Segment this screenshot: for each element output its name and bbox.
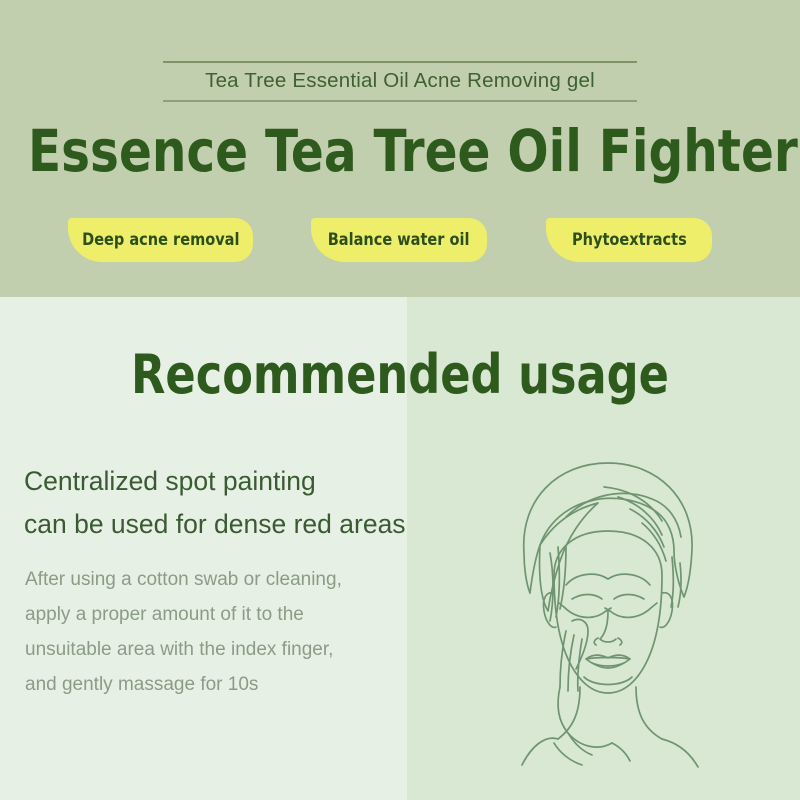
- eyebrow-rule-bottom: [163, 100, 637, 102]
- usage-detail-line: After using a cotton swab or cleaning,: [25, 562, 445, 597]
- feature-badge-label: Deep acne removal: [76, 230, 245, 250]
- usage-detail-line: apply a proper amount of it to the: [25, 597, 445, 632]
- feature-badge-phytoextracts: Phytoextracts: [546, 218, 712, 262]
- product-infographic: Tea Tree Essential Oil Acne Removing gel…: [0, 0, 800, 800]
- feature-badge-label: Phytoextracts: [566, 230, 692, 250]
- usage-detail-text: After using a cotton swab or cleaning, a…: [25, 562, 445, 702]
- woman-applying-cream-icon: [462, 425, 752, 770]
- product-subtitle: Tea Tree Essential Oil Acne Removing gel: [163, 63, 637, 100]
- usage-detail-line: unsuitable area with the index finger,: [25, 632, 445, 667]
- usage-lead-text: Centralized spot painting can be used fo…: [24, 460, 444, 546]
- usage-lead-line: can be used for dense red areas: [24, 503, 444, 546]
- usage-lead-line: Centralized spot painting: [24, 460, 444, 503]
- feature-badge-list: Deep acne removal Balance water oil Phyt…: [0, 218, 800, 264]
- feature-badge-label: Balance water oil: [322, 230, 475, 250]
- feature-badge-balance-water-oil: Balance water oil: [311, 218, 487, 262]
- page-title: Essence Tea Tree Oil Fighters: [28, 122, 772, 180]
- eyebrow-block: Tea Tree Essential Oil Acne Removing gel: [163, 61, 637, 102]
- section-title-recommended-usage: Recommended usage: [32, 348, 768, 402]
- header-band: Tea Tree Essential Oil Acne Removing gel…: [0, 0, 800, 297]
- feature-badge-deep-acne-removal: Deep acne removal: [68, 218, 253, 262]
- usage-detail-line: and gently massage for 10s: [25, 667, 445, 702]
